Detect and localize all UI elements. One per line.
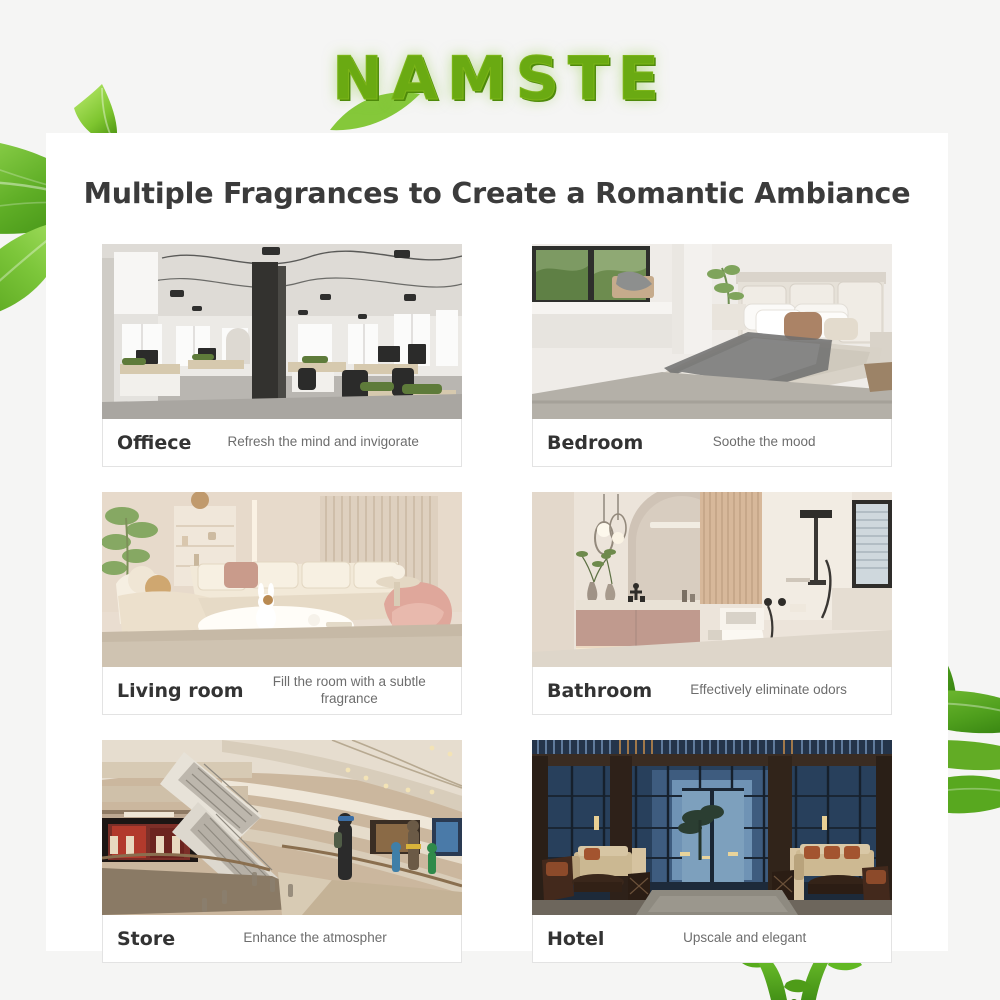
scene-tile-bathroom[interactable]: Bathroom Effectively eliminate odors xyxy=(532,492,892,715)
scene-caption-living-room: Living room Fill the room with a subtle … xyxy=(102,667,462,715)
scene-title-store: Store xyxy=(117,928,175,950)
scene-photo-store xyxy=(102,740,462,915)
scene-caption-bedroom: Bedroom Soothe the mood xyxy=(532,419,892,467)
brand-logo: NAMSTE xyxy=(0,44,1000,114)
brand-logo-text: NAMSTE xyxy=(332,44,667,114)
scene-tile-store[interactable]: Store Enhance the atmospher xyxy=(102,740,462,963)
scene-desc-bathroom: Effectively eliminate odors xyxy=(652,682,877,698)
scene-caption-hotel: Hotel Upscale and elegant xyxy=(532,915,892,963)
scene-caption-store: Store Enhance the atmospher xyxy=(102,915,462,963)
scene-tile-hotel[interactable]: Hotel Upscale and elegant xyxy=(532,740,892,963)
scene-tile-living-room[interactable]: Living room Fill the room with a subtle … xyxy=(102,492,462,715)
scene-tile-bedroom[interactable]: Bedroom Soothe the mood xyxy=(532,244,892,467)
scene-title-office: Offiece xyxy=(117,432,191,454)
scene-caption-bathroom: Bathroom Effectively eliminate odors xyxy=(532,667,892,715)
scene-title-living-room: Living room xyxy=(117,680,244,702)
scene-photo-hotel xyxy=(532,740,892,915)
scene-desc-hotel: Upscale and elegant xyxy=(604,930,877,946)
scene-title-bathroom: Bathroom xyxy=(547,680,652,702)
page-title: Multiple Fragrances to Create a Romantic… xyxy=(46,177,948,210)
scene-photo-bedroom xyxy=(532,244,892,419)
scene-title-bedroom: Bedroom xyxy=(547,432,643,454)
content-card: Multiple Fragrances to Create a Romantic… xyxy=(46,133,948,951)
scene-title-hotel: Hotel xyxy=(547,928,604,950)
scene-desc-store: Enhance the atmospher xyxy=(175,930,447,946)
scene-grid: Offiece Refresh the mind and invigorate xyxy=(102,244,892,963)
promo-page: NAMSTE Multiple Fragrances to Create a R… xyxy=(0,0,1000,1000)
scene-tile-office[interactable]: Offiece Refresh the mind and invigorate xyxy=(102,244,462,467)
scene-desc-office: Refresh the mind and invigorate xyxy=(191,434,447,450)
scene-desc-bedroom: Soothe the mood xyxy=(643,434,877,450)
scene-photo-office xyxy=(102,244,462,419)
scene-caption-office: Offiece Refresh the mind and invigorate xyxy=(102,419,462,467)
scene-desc-living-room: Fill the room with a subtle fragrance xyxy=(244,674,447,707)
scene-photo-living-room xyxy=(102,492,462,667)
scene-photo-bathroom xyxy=(532,492,892,667)
